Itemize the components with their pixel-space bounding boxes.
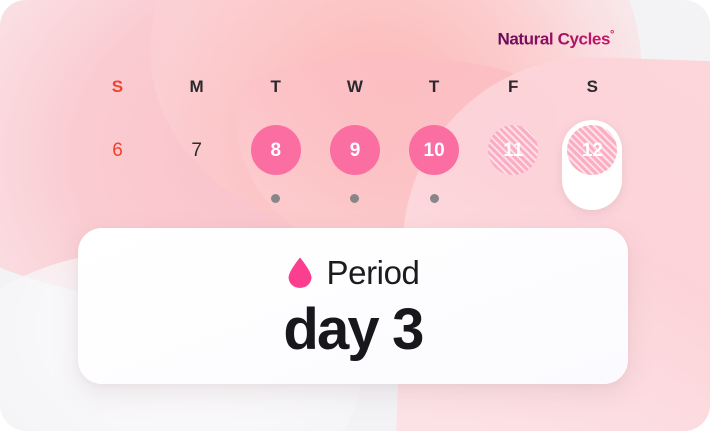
day-cell[interactable]: 10 [404, 120, 464, 210]
cycle-status-header: Period [287, 256, 420, 289]
day-cell[interactable]: 9 [325, 120, 385, 210]
day-cell[interactable]: 12 [562, 120, 622, 210]
day-number-plain[interactable]: 6 [93, 125, 143, 175]
day-number-plain[interactable]: 7 [172, 125, 222, 175]
day-cell[interactable]: 8 [246, 120, 306, 210]
brand-name: Natural Cycles [497, 30, 610, 49]
cycle-status-card[interactable]: Period day 3 [78, 228, 628, 384]
natural-cycles-widget: Natural Cycles° S6M7T8W9T10F11S12 Period… [0, 0, 710, 431]
day-column-6[interactable]: S6 [78, 78, 157, 210]
log-entry-dot [350, 194, 359, 203]
day-number-period[interactable]: 8 [251, 125, 301, 175]
day-of-week-label: T [271, 78, 282, 95]
day-column-7[interactable]: M7 [157, 78, 236, 210]
log-entry-dot [430, 194, 439, 203]
day-cell[interactable]: 7 [167, 120, 227, 210]
day-number-period[interactable]: 9 [330, 125, 380, 175]
day-of-week-label: S [587, 78, 599, 95]
day-number-predicted[interactable]: 11 [488, 125, 538, 175]
day-of-week-label: W [347, 78, 363, 95]
day-column-10[interactable]: T10 [395, 78, 474, 210]
day-column-11[interactable]: F11 [474, 78, 553, 210]
brand-degree-icon: ° [610, 29, 614, 41]
day-column-12[interactable]: S12 [553, 78, 632, 210]
day-column-8[interactable]: T8 [236, 78, 315, 210]
day-column-9[interactable]: W9 [315, 78, 394, 210]
blood-drop-icon [287, 256, 313, 289]
day-of-week-label: S [112, 78, 124, 95]
cycle-status-title: Period [327, 256, 420, 289]
day-cell[interactable]: 11 [483, 120, 543, 210]
day-number-period[interactable]: 10 [409, 125, 459, 175]
log-entry-dot [271, 194, 280, 203]
brand-logo: Natural Cycles° [497, 29, 614, 50]
week-strip: S6M7T8W9T10F11S12 [78, 78, 632, 210]
day-cell[interactable]: 6 [88, 120, 148, 210]
day-of-week-label: T [429, 78, 440, 95]
cycle-status-value: day 3 [283, 301, 422, 359]
day-of-week-label: M [190, 78, 204, 95]
day-of-week-label: F [508, 78, 519, 95]
